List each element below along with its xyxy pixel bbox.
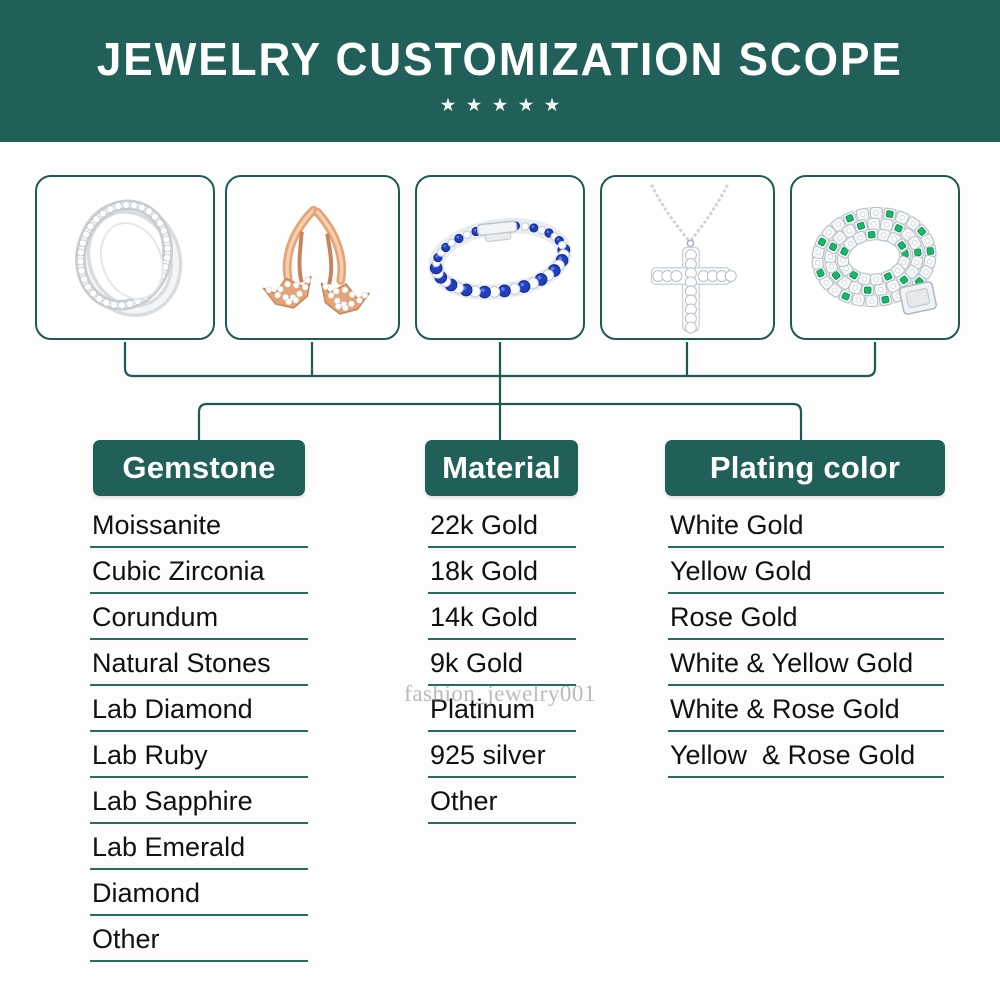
page-title: JEWELRY CUSTOMIZATION SCOPE: [97, 36, 903, 82]
option-item[interactable]: 925 silver: [428, 742, 576, 778]
connector-bus-lower: [199, 404, 801, 440]
option-item[interactable]: Yellow & Rose Gold: [668, 742, 944, 778]
star-icon: [493, 98, 508, 113]
option-item[interactable]: 9k Gold: [428, 650, 576, 686]
option-item[interactable]: Other: [428, 788, 576, 824]
option-item[interactable]: White Gold: [668, 512, 944, 548]
option-item[interactable]: Lab Diamond: [90, 696, 308, 732]
connector-drop-card-1: [125, 342, 133, 376]
infographic-page: JEWELRY CUSTOMIZATION SCOPE GemstoneMois…: [0, 0, 1000, 1000]
option-item[interactable]: 14k Gold: [428, 604, 576, 640]
option-item[interactable]: Lab Ruby: [90, 742, 308, 778]
connector-drop-card-5: [867, 342, 875, 376]
option-list-gemstone: MoissaniteCubic ZirconiaCorundumNatural …: [90, 512, 308, 972]
category-header-plating-color[interactable]: Plating color: [665, 440, 945, 496]
option-item[interactable]: Other: [90, 926, 308, 962]
option-item[interactable]: Rose Gold: [668, 604, 944, 640]
option-list-plating-color: White GoldYellow GoldRose GoldWhite & Ye…: [668, 512, 944, 788]
option-item[interactable]: Moissanite: [90, 512, 308, 548]
option-item[interactable]: 18k Gold: [428, 558, 576, 594]
diamond-cross-pendant-image: [602, 177, 773, 338]
product-card-sapphire-tennis-bracelet[interactable]: [415, 175, 585, 340]
option-item[interactable]: Lab Emerald: [90, 834, 308, 870]
option-item[interactable]: White & Rose Gold: [668, 696, 944, 732]
sapphire-tennis-bracelet-image: [417, 177, 583, 338]
option-item[interactable]: Yellow Gold: [668, 558, 944, 594]
option-list-material: 22k Gold18k Gold14k Gold9k GoldPlatinum9…: [428, 512, 576, 834]
option-item[interactable]: White & Yellow Gold: [668, 650, 944, 686]
option-item[interactable]: Diamond: [90, 880, 308, 916]
option-item[interactable]: Lab Sapphire: [90, 788, 308, 824]
diamond-crossover-ring-image: [37, 177, 213, 338]
star-icon: [467, 98, 482, 113]
product-card-diamond-cross-pendant[interactable]: [600, 175, 775, 340]
option-item[interactable]: 22k Gold: [428, 512, 576, 548]
option-item[interactable]: Platinum: [428, 696, 576, 732]
emerald-cuban-chain-image: [792, 177, 958, 338]
star-icon: [545, 98, 560, 113]
product-card-diamond-crossover-ring[interactable]: [35, 175, 215, 340]
option-item[interactable]: Corundum: [90, 604, 308, 640]
product-card-emerald-cuban-chain[interactable]: [790, 175, 960, 340]
rose-gold-crown-earrings-image: [227, 177, 398, 338]
star-icon: [519, 98, 534, 113]
star-rating: [441, 98, 560, 113]
product-card-rose-gold-crown-earrings[interactable]: [225, 175, 400, 340]
category-header-material[interactable]: Material: [425, 440, 578, 496]
header-banner: JEWELRY CUSTOMIZATION SCOPE: [0, 0, 1000, 142]
option-item[interactable]: Cubic Zirconia: [90, 558, 308, 594]
option-item[interactable]: Natural Stones: [90, 650, 308, 686]
category-header-gemstone[interactable]: Gemstone: [93, 440, 305, 496]
star-icon: [441, 98, 456, 113]
